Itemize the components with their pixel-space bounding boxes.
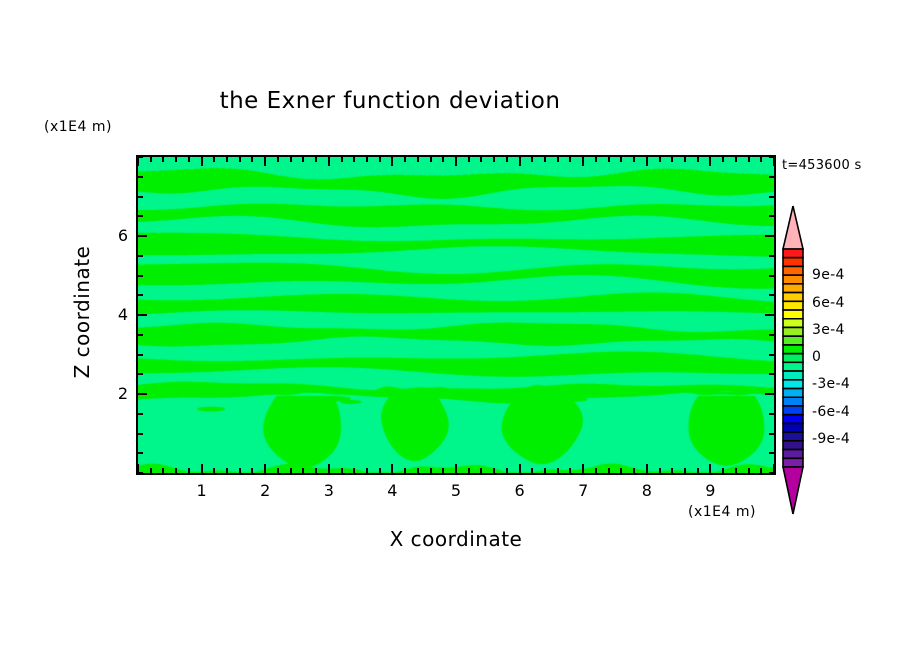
x-tick-major-top (264, 157, 266, 166)
x-tick-minor (544, 468, 546, 473)
colorbar-band (783, 406, 803, 415)
y-tick-minor (138, 354, 143, 356)
x-tick-major (709, 464, 711, 473)
x-axis-title: X coordinate (136, 527, 776, 551)
x-tick-minor (748, 468, 750, 473)
x-tick-minor-top (290, 157, 292, 162)
x-tick-minor-top (417, 157, 419, 162)
x-tick-minor-top (531, 157, 533, 162)
colorbar-over-cap (783, 206, 803, 249)
contour-plot-area (136, 155, 776, 475)
x-tick-minor-top (302, 157, 304, 162)
x-tick-minor (608, 468, 610, 473)
x-tick-minor-top (671, 157, 673, 162)
x-tick-minor (290, 468, 292, 473)
x-tick-label: 8 (632, 481, 662, 500)
x-tick-minor-top (150, 157, 152, 162)
colorbar-svg (780, 205, 806, 515)
x-tick-minor-top (544, 157, 546, 162)
x-tick-minor (442, 468, 444, 473)
x-tick-minor-top (569, 157, 571, 162)
time-annotation: t=453600 s (782, 158, 862, 173)
x-tick-minor-top (468, 157, 470, 162)
colorbar-band (783, 327, 803, 336)
x-tick-label: 1 (187, 481, 217, 500)
y-tick-minor-right (769, 373, 774, 375)
y-tick-major-right (765, 393, 774, 395)
x-tick-major-top (582, 157, 584, 166)
colorbar-tick-label: 9e-4 (812, 267, 845, 283)
x-tick-major-top (709, 157, 711, 166)
x-tick-label: 4 (377, 481, 407, 500)
x-tick-label: 7 (568, 481, 598, 500)
y-tick-label: 2 (98, 384, 128, 403)
x-tick-major-top (646, 157, 648, 166)
x-tick-minor-top (353, 157, 355, 162)
x-tick-minor (213, 468, 215, 473)
y-tick-minor-right (769, 255, 774, 257)
x-tick-minor (620, 468, 622, 473)
x-tick-minor (569, 468, 571, 473)
x-tick-major (582, 464, 584, 473)
y-tick-major (138, 393, 147, 395)
colorbar-band (783, 415, 803, 424)
colorbar-band (783, 301, 803, 310)
x-tick-minor (341, 468, 343, 473)
y-axis-title: Z coordinate (70, 212, 94, 412)
y-tick-label: 6 (98, 226, 128, 245)
x-tick-minor (226, 468, 228, 473)
y-tick-minor-right (769, 294, 774, 296)
x-tick-minor-top (366, 157, 368, 162)
x-tick-label: 9 (695, 481, 725, 500)
x-axis-unit-label: (x1E4 m) (688, 504, 756, 520)
colorbar-band (783, 397, 803, 406)
y-tick-minor-right (769, 354, 774, 356)
colorbar-band (783, 293, 803, 302)
x-tick-minor (417, 468, 419, 473)
x-tick-minor-top (748, 157, 750, 162)
colorbar-under-cap (783, 467, 803, 514)
x-tick-major (519, 464, 521, 473)
colorbar-band (783, 371, 803, 380)
y-tick-minor (138, 294, 143, 296)
x-tick-major-top (137, 157, 139, 166)
x-tick-major (328, 464, 330, 473)
y-tick-minor (138, 472, 143, 474)
colorbar-band (783, 275, 803, 284)
x-tick-minor-top (251, 157, 253, 162)
x-tick-minor (239, 468, 241, 473)
x-tick-minor (302, 468, 304, 473)
x-tick-major-top (455, 157, 457, 166)
x-tick-minor-top (480, 157, 482, 162)
y-tick-minor-right (769, 215, 774, 217)
x-tick-major-top (201, 157, 203, 166)
y-tick-label: 4 (98, 305, 128, 324)
x-tick-minor-top (506, 157, 508, 162)
x-tick-minor (684, 468, 686, 473)
y-axis-unit-label: (x1E4 m) (44, 119, 112, 135)
y-tick-minor (138, 156, 143, 158)
x-tick-major (455, 464, 457, 473)
colorbar-band (783, 249, 803, 258)
y-tick-minor-right (769, 413, 774, 415)
page-title: the Exner function deviation (0, 88, 780, 114)
x-tick-minor (188, 468, 190, 473)
y-tick-minor-right (769, 275, 774, 277)
y-tick-minor (138, 413, 143, 415)
x-tick-minor (175, 468, 177, 473)
colorbar-band (783, 423, 803, 432)
y-tick-major-right (765, 235, 774, 237)
x-tick-label: 6 (505, 481, 535, 500)
x-tick-minor (671, 468, 673, 473)
colorbar-band (783, 345, 803, 354)
colorbar-band (783, 441, 803, 450)
x-tick-minor (251, 468, 253, 473)
x-tick-minor-top (239, 157, 241, 162)
x-tick-minor (150, 468, 152, 473)
y-tick-minor-right (769, 196, 774, 198)
colorbar-band (783, 310, 803, 319)
x-tick-minor-top (684, 157, 686, 162)
colorbar-band (783, 432, 803, 441)
colorbar-band (783, 266, 803, 275)
x-tick-major-top (391, 157, 393, 166)
x-tick-major-top (328, 157, 330, 166)
colorbar-band (783, 336, 803, 345)
y-tick-minor-right (769, 334, 774, 336)
colorbar-band (783, 450, 803, 459)
x-tick-minor (277, 468, 279, 473)
y-tick-minor (138, 433, 143, 435)
x-tick-major (646, 464, 648, 473)
x-tick-minor (659, 468, 661, 473)
x-tick-minor (404, 468, 406, 473)
x-tick-minor-top (595, 157, 597, 162)
x-tick-label: 3 (314, 481, 344, 500)
x-tick-minor-top (226, 157, 228, 162)
x-tick-major (391, 464, 393, 473)
x-tick-minor (697, 468, 699, 473)
x-tick-minor (480, 468, 482, 473)
colorbar-band (783, 458, 803, 467)
x-tick-minor-top (557, 157, 559, 162)
x-tick-major-top (773, 157, 775, 166)
x-tick-minor-top (188, 157, 190, 162)
colorbar-tick-label: -9e-4 (812, 431, 850, 447)
x-tick-major-top (519, 157, 521, 166)
x-tick-minor-top (760, 157, 762, 162)
y-tick-minor-right (769, 472, 774, 474)
y-tick-minor (138, 196, 143, 198)
y-tick-major (138, 235, 147, 237)
y-tick-minor (138, 215, 143, 217)
y-tick-minor-right (769, 176, 774, 178)
x-tick-minor-top (659, 157, 661, 162)
x-tick-minor-top (608, 157, 610, 162)
x-tick-minor (531, 468, 533, 473)
x-tick-label: 2 (250, 481, 280, 500)
y-tick-minor (138, 334, 143, 336)
x-tick-minor-top (722, 157, 724, 162)
x-tick-minor-top (162, 157, 164, 162)
colorbar-band (783, 284, 803, 293)
x-tick-minor-top (404, 157, 406, 162)
x-tick-minor (366, 468, 368, 473)
colorbar-tick-label: -6e-4 (812, 404, 850, 420)
colorbar-tick-label: 3e-4 (812, 322, 845, 338)
x-tick-minor (595, 468, 597, 473)
x-tick-minor (506, 468, 508, 473)
x-tick-major (264, 464, 266, 473)
x-tick-minor-top (633, 157, 635, 162)
colorbar-tick-label: -3e-4 (812, 376, 850, 392)
colorbar-tick-label: 0 (812, 349, 821, 365)
x-tick-minor (468, 468, 470, 473)
y-tick-minor-right (769, 433, 774, 435)
y-tick-minor (138, 275, 143, 277)
x-tick-minor-top (213, 157, 215, 162)
x-tick-minor (353, 468, 355, 473)
x-tick-minor-top (430, 157, 432, 162)
y-tick-minor-right (769, 156, 774, 158)
y-tick-major (138, 314, 147, 316)
x-tick-minor (430, 468, 432, 473)
colorbar-band (783, 258, 803, 267)
colorbar (780, 205, 806, 515)
x-tick-minor (557, 468, 559, 473)
x-tick-minor-top (493, 157, 495, 162)
x-tick-minor-top (341, 157, 343, 162)
x-tick-minor (315, 468, 317, 473)
x-tick-minor-top (620, 157, 622, 162)
y-tick-minor (138, 373, 143, 375)
x-tick-minor-top (697, 157, 699, 162)
x-tick-minor (760, 468, 762, 473)
y-tick-minor (138, 176, 143, 178)
x-tick-label: 5 (441, 481, 471, 500)
x-tick-minor (633, 468, 635, 473)
x-tick-minor (379, 468, 381, 473)
colorbar-tick-label: 6e-4 (812, 295, 845, 311)
x-tick-minor (735, 468, 737, 473)
x-tick-minor-top (315, 157, 317, 162)
y-tick-minor-right (769, 452, 774, 454)
x-tick-minor (162, 468, 164, 473)
x-tick-minor (722, 468, 724, 473)
y-tick-minor (138, 452, 143, 454)
x-tick-minor (493, 468, 495, 473)
colorbar-band (783, 380, 803, 389)
x-tick-minor-top (175, 157, 177, 162)
contour-field-canvas (138, 157, 774, 473)
x-tick-minor-top (379, 157, 381, 162)
x-tick-minor-top (442, 157, 444, 162)
colorbar-band (783, 362, 803, 371)
colorbar-band (783, 354, 803, 363)
colorbar-band (783, 319, 803, 328)
x-tick-minor-top (277, 157, 279, 162)
colorbar-band (783, 389, 803, 398)
x-tick-minor-top (735, 157, 737, 162)
y-tick-major-right (765, 314, 774, 316)
x-tick-major (201, 464, 203, 473)
y-tick-minor (138, 255, 143, 257)
